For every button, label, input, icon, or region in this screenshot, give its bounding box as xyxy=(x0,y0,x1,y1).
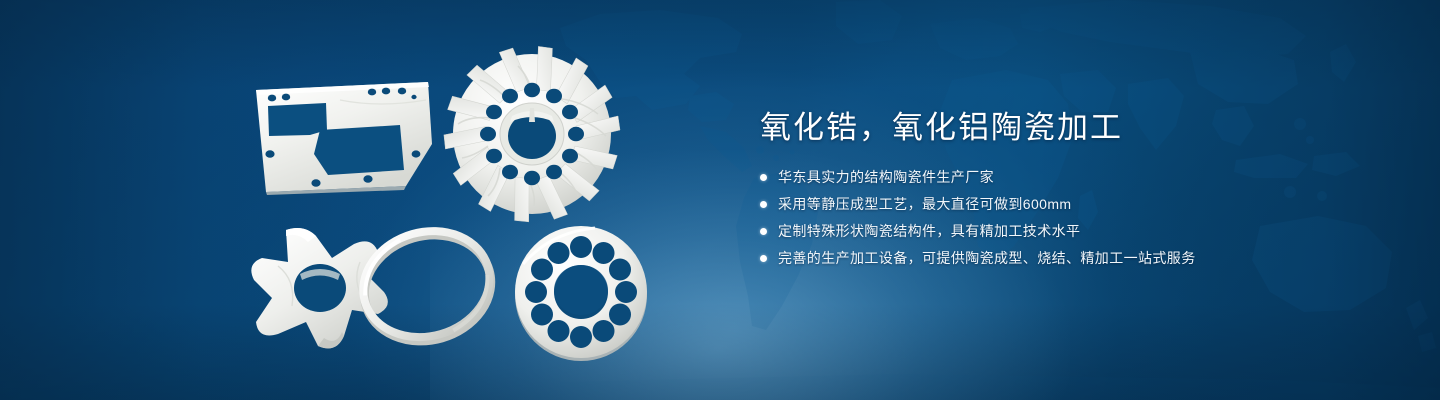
feature-text: 定制特殊形状陶瓷结构件，具有精加工技术水平 xyxy=(778,222,1080,240)
banner-copy: 氧化锆，氧化铝陶瓷加工 华东具实力的结构陶瓷件生产厂家 采用等静压成型工艺，最大… xyxy=(760,108,1380,283)
list-item: 采用等静压成型工艺，最大直径可做到600mm xyxy=(760,195,1380,213)
bullet-dot-icon xyxy=(760,255,767,262)
page-title: 氧化锆，氧化铝陶瓷加工 xyxy=(760,108,1380,148)
feature-text: 采用等静压成型工艺，最大直径可做到600mm xyxy=(778,195,1071,213)
list-item: 完善的生产加工设备，可提供陶瓷成型、烧结、精加工一站式服务 xyxy=(760,249,1380,267)
ceramic-ring-image xyxy=(352,226,502,348)
feature-text: 华东具实力的结构陶瓷件生产厂家 xyxy=(778,168,994,186)
ceramic-plate-image xyxy=(250,78,440,194)
hero-banner: 氧化锆，氧化铝陶瓷加工 华东具实力的结构陶瓷件生产厂家 采用等静压成型工艺，最大… xyxy=(0,0,1440,400)
bullet-dot-icon xyxy=(760,174,767,181)
ceramic-impeller-image xyxy=(450,50,614,220)
bullet-dot-icon xyxy=(760,201,767,208)
bullet-dot-icon xyxy=(760,228,767,235)
list-item: 定制特殊形状陶瓷结构件，具有精加工技术水平 xyxy=(760,222,1380,240)
feature-list: 华东具实力的结构陶瓷件生产厂家 采用等静压成型工艺，最大直径可做到600mm 定… xyxy=(760,168,1380,267)
list-item: 华东具实力的结构陶瓷件生产厂家 xyxy=(760,168,1380,186)
feature-text: 完善的生产加工设备，可提供陶瓷成型、烧结、精加工一站式服务 xyxy=(778,249,1196,267)
ceramic-hole-disc-image xyxy=(512,222,650,362)
